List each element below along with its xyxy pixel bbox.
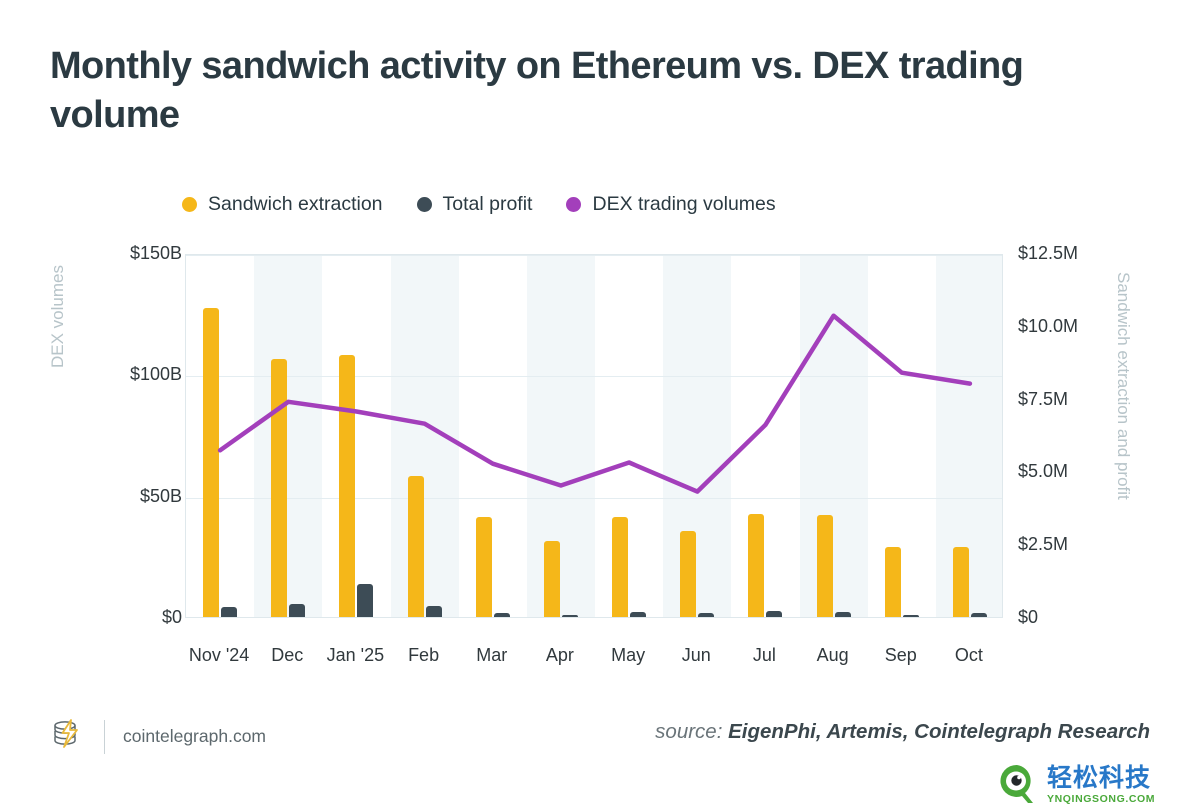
source-credit: source: EigenPhi, Artemis, Cointelegraph… <box>655 720 1150 744</box>
brand-url: cointelegraph.com <box>123 726 266 747</box>
legend-label-1: Total profit <box>443 193 533 216</box>
y-tick-left-1: $50B <box>62 486 182 507</box>
y-tick-left-3: $150B <box>62 243 182 264</box>
x-tick-6: May <box>611 645 645 666</box>
chart-page: Monthly sandwich activity on Ethereum vs… <box>0 0 1200 809</box>
source-label: source: <box>655 720 722 743</box>
x-tick-0: Nov '24 <box>189 645 249 666</box>
x-tick-5: Apr <box>546 645 574 666</box>
legend-dot-icon <box>182 197 197 212</box>
legend-item-1[interactable]: Total profit <box>417 193 533 216</box>
watermark-cn: 轻松科技 <box>1047 766 1155 791</box>
x-tick-4: Mar <box>476 645 507 666</box>
qingsong-eye-icon <box>996 762 1040 809</box>
x-tick-8: Jul <box>753 645 776 666</box>
watermark-en: YNQINGSONG.COM <box>1047 794 1155 805</box>
y-tick-right-5: $12.5M <box>1018 243 1148 264</box>
y-tick-right-3: $7.5M <box>1018 389 1148 410</box>
x-tick-9: Aug <box>817 645 849 666</box>
chart-footer: cointelegraph.com source: EigenPhi, Arte… <box>0 700 1200 770</box>
x-tick-1: Dec <box>271 645 303 666</box>
watermark: 轻松科技 YNQINGSONG.COM <box>996 762 1155 809</box>
x-tick-2: Jan '25 <box>327 645 384 666</box>
y-tick-right-2: $5.0M <box>1018 461 1148 482</box>
chart-plot-area <box>185 254 1003 618</box>
legend-label-2: DEX trading volumes <box>592 193 775 216</box>
legend-item-2[interactable]: DEX trading volumes <box>566 193 775 216</box>
x-tick-7: Jun <box>682 645 711 666</box>
page-title: Monthly sandwich activity on Ethereum vs… <box>50 42 1160 141</box>
chart-legend: Sandwich extractionTotal profitDEX tradi… <box>182 193 776 216</box>
watermark-text: 轻松科技 YNQINGSONG.COM <box>1047 766 1155 805</box>
dex-volume-line <box>186 255 1003 618</box>
y-tick-left-0: $0 <box>62 607 182 628</box>
x-tick-3: Feb <box>408 645 439 666</box>
legend-dot-icon <box>566 197 581 212</box>
brand-block: cointelegraph.com <box>50 716 266 757</box>
y-tick-right-0: $0 <box>1018 607 1148 628</box>
source-names: EigenPhi, Artemis, Cointelegraph Researc… <box>728 720 1150 743</box>
divider <box>104 720 105 754</box>
legend-item-0[interactable]: Sandwich extraction <box>182 193 383 216</box>
x-tick-10: Sep <box>885 645 917 666</box>
y-axis-title-left: DEX volumes <box>48 265 68 368</box>
x-tick-11: Oct <box>955 645 983 666</box>
y-tick-left-2: $100B <box>62 364 182 385</box>
legend-label-0: Sandwich extraction <box>208 193 383 216</box>
cointelegraph-coin-stack-icon <box>50 716 86 757</box>
legend-dot-icon <box>417 197 432 212</box>
y-tick-right-1: $2.5M <box>1018 534 1148 555</box>
y-tick-right-4: $10.0M <box>1018 316 1148 337</box>
